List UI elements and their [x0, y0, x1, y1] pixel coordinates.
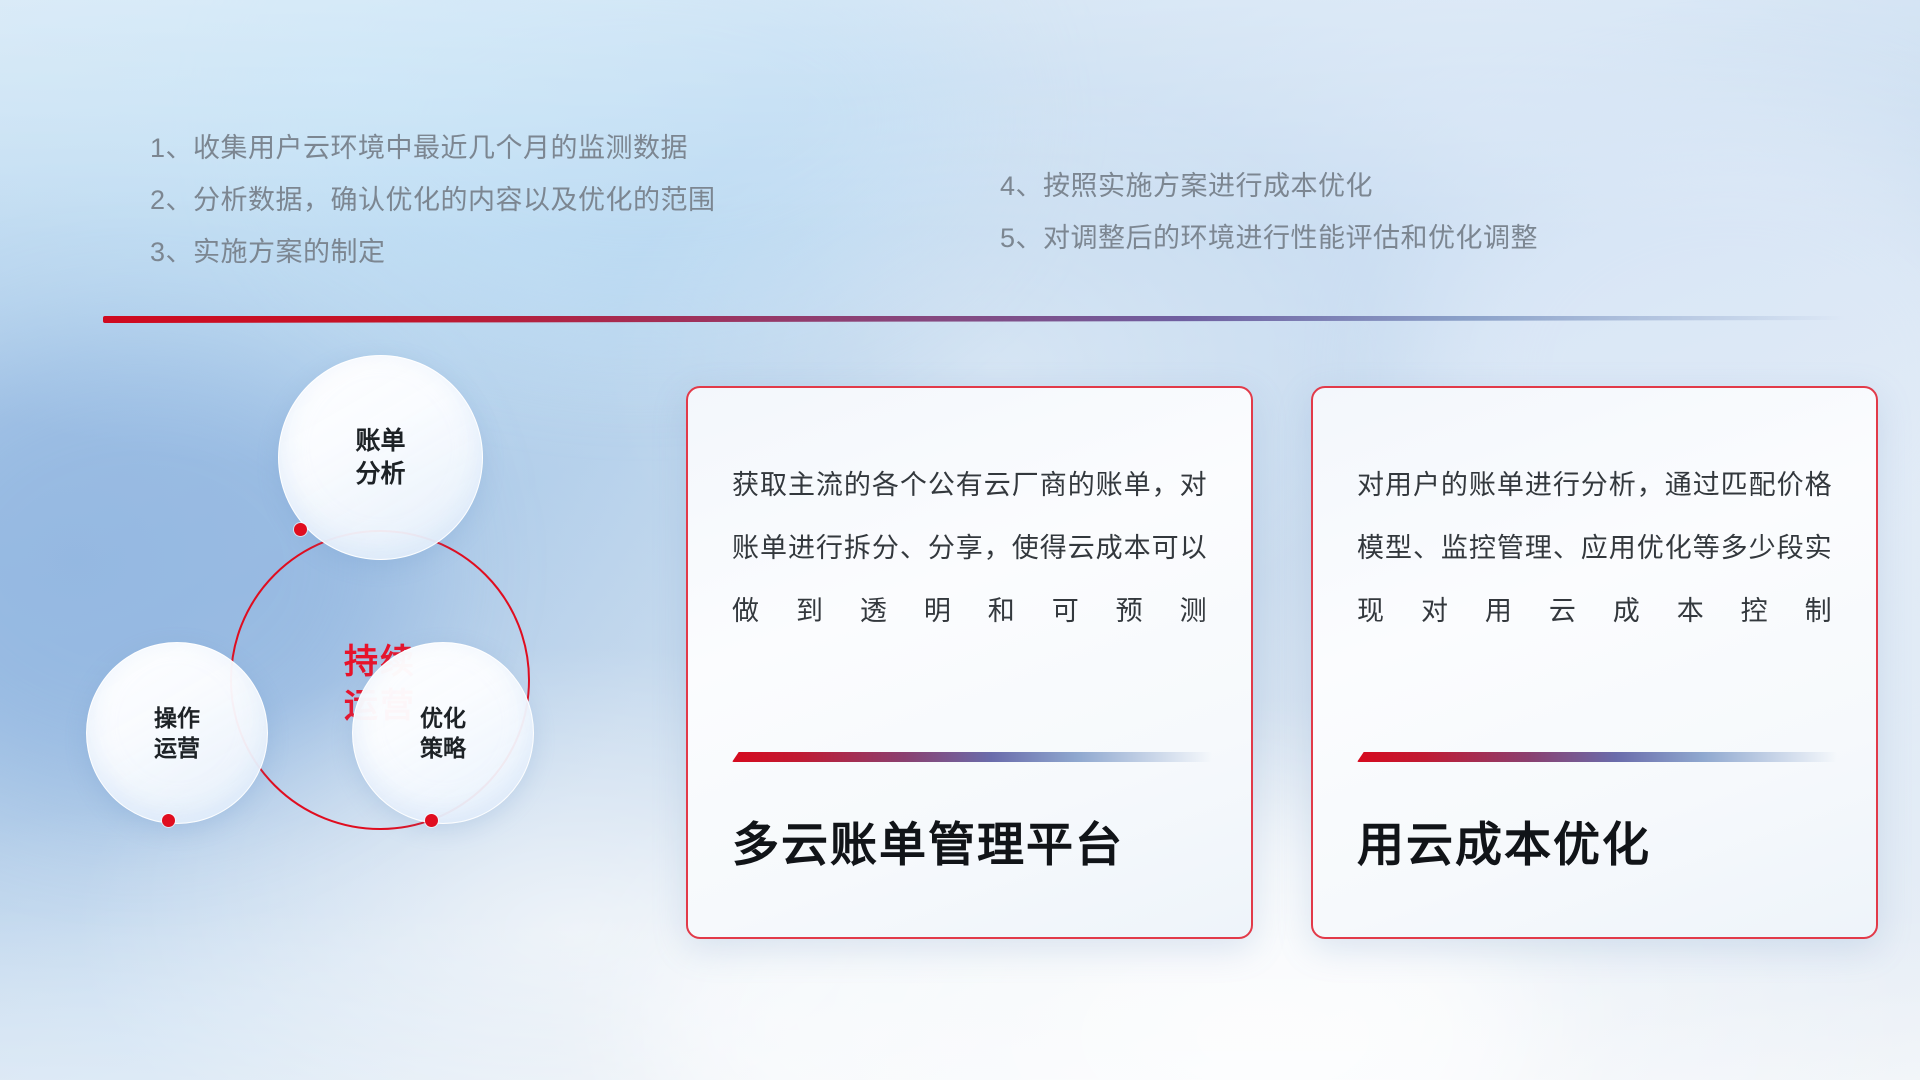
venn-bubble-billing-analysis[interactable]: 账单 分析 — [278, 355, 483, 560]
venn-node-dot-bottom-right — [425, 814, 438, 827]
card-cloud-cost-optimization[interactable]: 对用户的账单进行分析，通过匹配价格模型、监控管理、应用优化等多少段实现对用云成本… — [1311, 386, 1878, 939]
venn-node-dot-bottom-left — [162, 814, 175, 827]
step-item-5: 5、对调整后的环境进行性能评估和优化调整 — [1000, 212, 1538, 264]
venn-bubble-operations-line1: 操作 — [154, 703, 200, 733]
card-title: 用云成本优化 — [1357, 806, 1832, 875]
card-body-text: 对用户的账单进行分析，通过匹配价格模型、监控管理、应用优化等多少段实现对用云成本… — [1357, 454, 1832, 643]
venn-node-dot-top — [294, 523, 307, 536]
step-item-1: 1、收集用户云环境中最近几个月的监测数据 — [150, 122, 716, 174]
card-body-text: 获取主流的各个公有云厂商的账单，对账单进行拆分、分享，使得云成本可以做到透明和可… — [732, 454, 1207, 643]
card-multicloud-billing-platform[interactable]: 获取主流的各个公有云厂商的账单，对账单进行拆分、分享，使得云成本可以做到透明和可… — [686, 386, 1253, 939]
card-divider — [732, 752, 1212, 762]
venn-bubble-optimization-strategy[interactable]: 优化 策略 — [352, 642, 534, 824]
venn-diagram: 持续 运营 账单 分析 操作 运营 优化 策略 — [100, 360, 620, 920]
step-item-4: 4、按照实施方案进行成本优化 — [1000, 160, 1538, 212]
step-item-2: 2、分析数据，确认优化的内容以及优化的范围 — [150, 174, 716, 226]
venn-bubble-optimization-strategy-line2: 策略 — [420, 733, 466, 763]
venn-bubble-operations-line2: 运营 — [154, 733, 200, 763]
venn-bubble-billing-analysis-line1: 账单 — [355, 425, 405, 458]
card-divider — [1357, 752, 1837, 762]
steps-right-column: 4、按照实施方案进行成本优化 5、对调整后的环境进行性能评估和优化调整 — [1000, 160, 1538, 264]
venn-bubble-billing-analysis-line2: 分析 — [355, 458, 405, 491]
venn-bubble-operations[interactable]: 操作 运营 — [86, 642, 268, 824]
feature-cards: 获取主流的各个公有云厂商的账单，对账单进行拆分、分享，使得云成本可以做到透明和可… — [686, 386, 1878, 939]
steps-left-column: 1、收集用户云环境中最近几个月的监测数据 2、分析数据，确认优化的内容以及优化的… — [150, 122, 716, 278]
venn-bubble-optimization-strategy-line1: 优化 — [420, 703, 466, 733]
card-title: 多云账单管理平台 — [732, 806, 1207, 875]
step-item-3: 3、实施方案的制定 — [150, 226, 716, 278]
